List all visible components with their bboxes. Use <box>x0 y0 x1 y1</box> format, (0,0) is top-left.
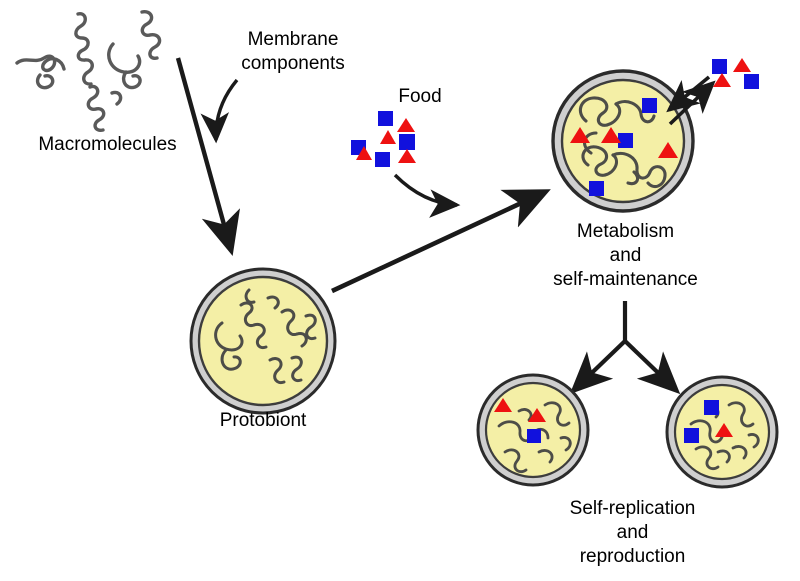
arrow-food-to-metabolism <box>395 175 457 205</box>
food-square-icon <box>704 400 719 415</box>
macromolecule-icon <box>76 14 92 84</box>
arrow-protobiont-to-metabolism <box>332 192 545 291</box>
food-triangle-icon <box>733 58 751 72</box>
food-square-icon <box>642 98 657 113</box>
food-square-icon <box>378 111 393 126</box>
food-triangle-icon <box>398 149 416 163</box>
food-square-icon <box>527 429 541 443</box>
cell-protobiont <box>191 269 335 413</box>
food-triangle-icon <box>380 130 396 144</box>
label-self-replication: Self-replication and reproduction <box>535 497 730 569</box>
arrow-branch-group <box>574 301 676 390</box>
macromolecule-group-free <box>17 12 160 131</box>
food-square-icon <box>684 428 699 443</box>
macromolecule-icon <box>88 86 120 130</box>
food-square-icon <box>618 133 633 148</box>
arrow-metabolism-to-daughter-left <box>574 341 625 390</box>
macromolecule-icon <box>109 12 160 88</box>
food-square-icon <box>399 134 415 150</box>
diagram-canvas: Macromolecules Membrane components Food … <box>0 0 800 581</box>
external-particle-cluster <box>712 58 759 89</box>
food-triangle-icon <box>397 118 415 132</box>
food-triangle-icon <box>713 73 731 87</box>
food-square-icon <box>712 59 727 74</box>
label-food: Food <box>385 85 455 109</box>
cell-daughter-left <box>478 375 588 485</box>
label-metabolism: Metabolism and self-maintenance <box>533 220 718 292</box>
label-macromolecules: Macromolecules <box>20 133 195 157</box>
label-protobiont: Protobiont <box>193 409 333 433</box>
food-square-icon <box>589 181 604 196</box>
food-square-icon <box>744 74 759 89</box>
food-particle-cluster <box>351 111 416 167</box>
label-membrane-components: Membrane components <box>223 28 363 76</box>
cell-metabolism <box>553 71 693 211</box>
food-square-icon <box>375 152 390 167</box>
arrow-membrane-components-to-protobiont <box>216 80 237 140</box>
macromolecule-icon <box>17 56 64 87</box>
cell-daughter-right <box>667 377 777 487</box>
arrow-metabolism-to-daughter-right <box>625 341 676 390</box>
